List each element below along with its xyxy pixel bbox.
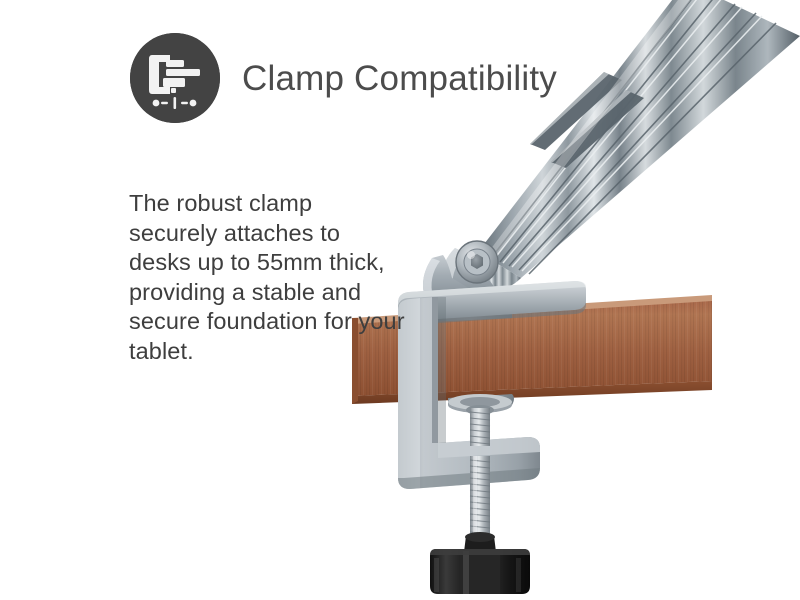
product-feature-card: Clamp Compatibility The robust clamp sec… bbox=[0, 0, 800, 600]
clamp-knob bbox=[430, 532, 530, 594]
page-title: Clamp Compatibility bbox=[242, 61, 557, 96]
header: Clamp Compatibility bbox=[130, 33, 557, 123]
description-text: The robust clamp securely attaches to de… bbox=[129, 189, 405, 366]
clamp-icon bbox=[130, 33, 220, 123]
pivot-joint bbox=[456, 241, 498, 283]
